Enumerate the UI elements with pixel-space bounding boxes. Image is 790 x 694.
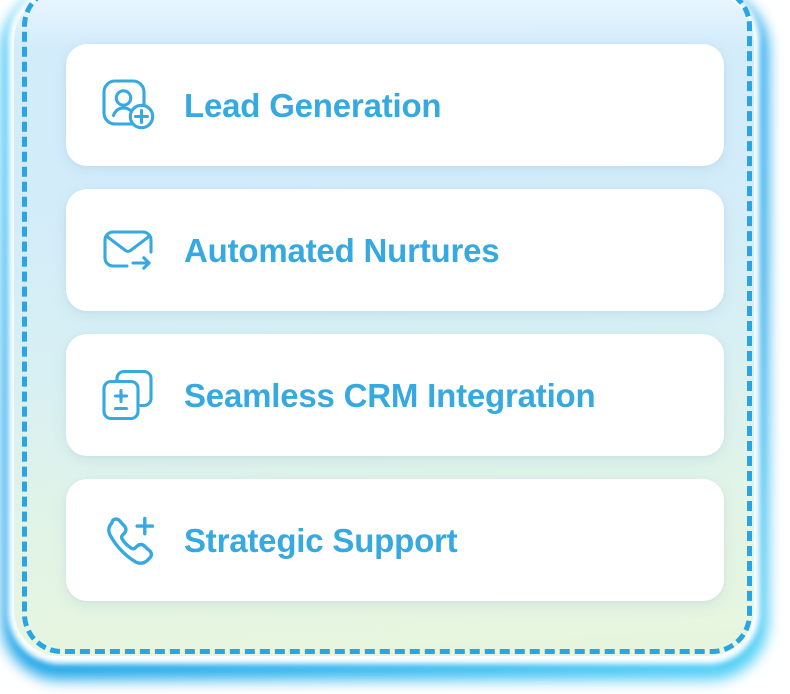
stacked-cards-plus-minus-icon [66,364,184,426]
feature-label: Seamless CRM Integration [184,379,595,412]
feature-panel-stage: Lead Generation Automated Nurtures [0,0,790,694]
feature-label: Lead Generation [184,89,441,122]
user-card-add-icon [66,74,184,136]
feature-list: Lead Generation Automated Nurtures [66,44,724,601]
feature-label: Strategic Support [184,524,457,557]
feature-card-strategic-support[interactable]: Strategic Support [66,479,724,601]
feature-card-automated-nurtures[interactable]: Automated Nurtures [66,189,724,311]
feature-panel: Lead Generation Automated Nurtures [14,0,754,656]
feature-card-lead-generation[interactable]: Lead Generation [66,44,724,166]
phone-plus-icon [66,508,184,572]
envelope-arrow-right-icon [66,219,184,281]
feature-card-crm-integration[interactable]: Seamless CRM Integration [66,334,724,456]
feature-label: Automated Nurtures [184,234,499,267]
